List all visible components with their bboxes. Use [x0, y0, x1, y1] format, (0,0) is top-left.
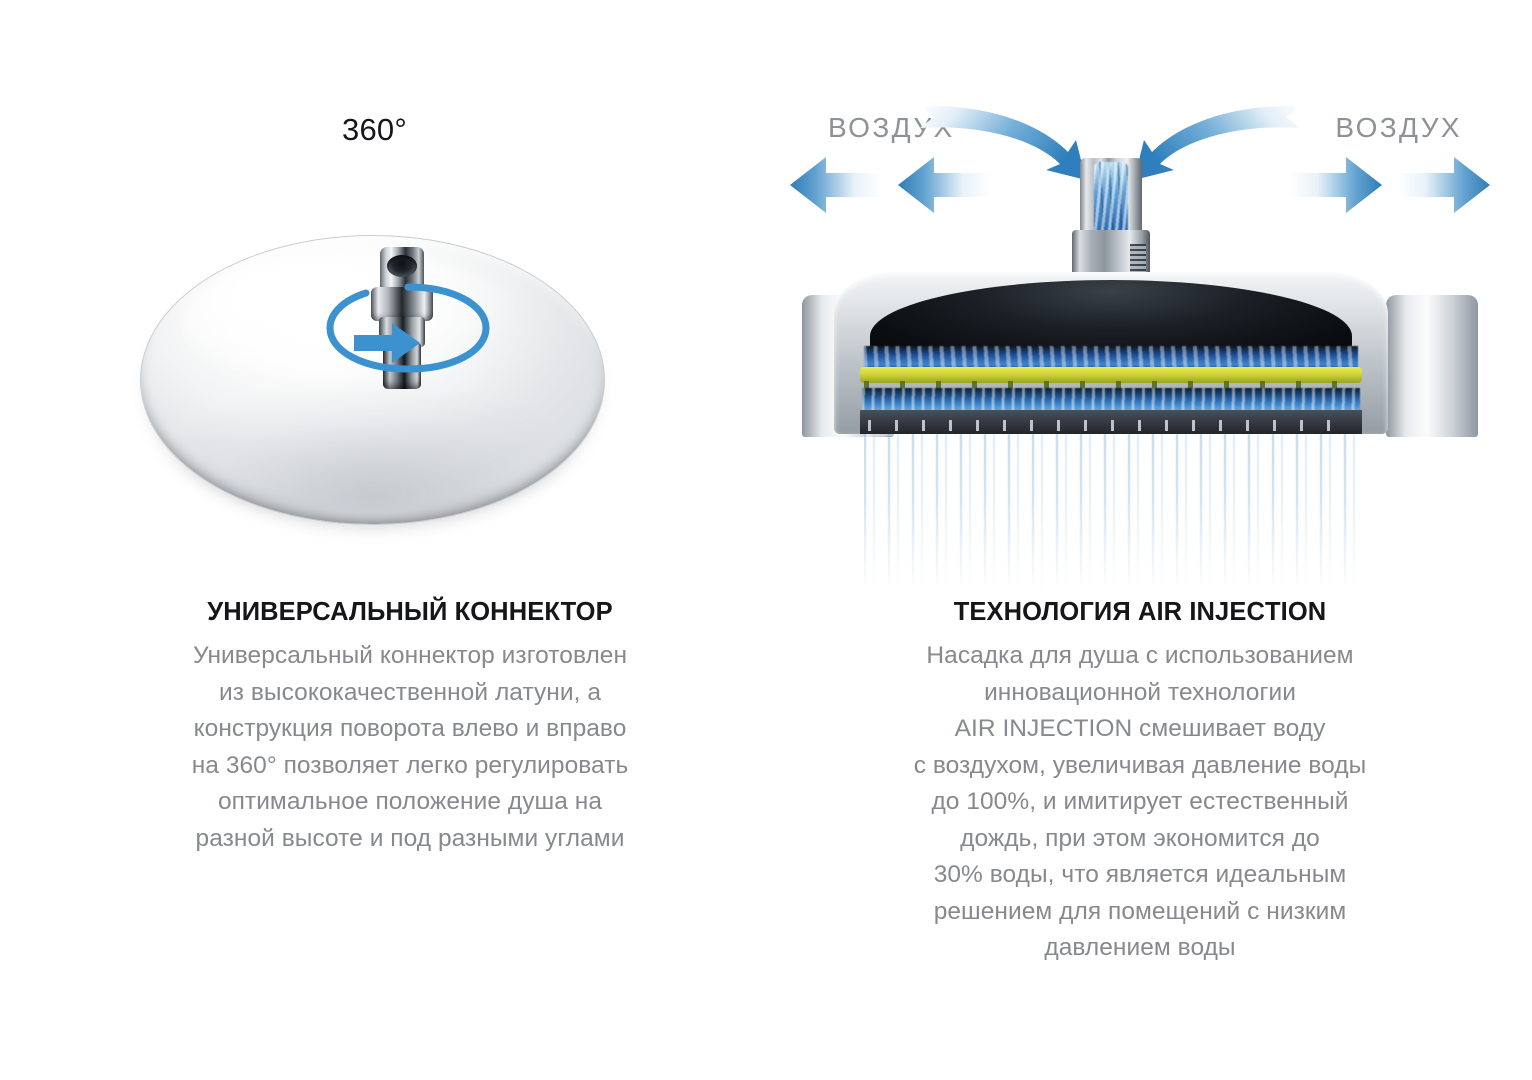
- feature-column-air-injection: ВОЗДУХ ВОЗДУХ: [790, 0, 1490, 1080]
- head-shell-right: [1386, 295, 1478, 437]
- body-line: решением для помещений с низким: [790, 894, 1490, 931]
- body-line: 30% воды, что является идеальным: [790, 857, 1490, 894]
- body-line: давлением воды: [790, 930, 1490, 967]
- shower-head-cutaway-icon: ВОЗДУХ ВОЗДУХ: [790, 90, 1490, 590]
- shower-disc-icon: [140, 235, 605, 525]
- body-line: AIR INJECTION смешивает воду: [790, 711, 1490, 748]
- feature-title-air-injection: ТЕХНОЛОГИЯ AIR INJECTION: [790, 598, 1490, 627]
- body-line: на 360° позволяет легко регулировать: [60, 748, 760, 785]
- body-line: конструкция поворота влево и вправо: [60, 711, 760, 748]
- body-line: Насадка для душа с использованием: [790, 638, 1490, 675]
- head-cross-section: [834, 272, 1388, 434]
- feature-body-air-injection: Насадка для душа с использованием иннова…: [790, 638, 1490, 967]
- rotation-arrow-icon: [320, 273, 495, 381]
- body-line: инновационной технологии: [790, 675, 1490, 712]
- feature-column-universal-connector: 360° УНИВЕРСАЛЬНЫЙ КОННЕКТОР Универсальн…: [60, 0, 760, 1080]
- infographic-page: 360° УНИВЕРСАЛЬНЫЙ КОННЕКТОР Универсальн…: [0, 0, 1532, 1080]
- body-line: оптимальное положение душа на: [60, 784, 760, 821]
- caption-universal-connector: УНИВЕРСАЛЬНЫЙ КОННЕКТОР Универсальный ко…: [60, 598, 760, 857]
- caption-air-injection: ТЕХНОЛОГИЯ AIR INJECTION Насадка для душ…: [790, 598, 1490, 967]
- body-line: дождь, при этом экономится до: [790, 821, 1490, 858]
- feature-title-universal-connector: УНИВЕРСАЛЬНЫЙ КОННЕКТОР: [60, 598, 760, 627]
- body-line: до 100%, и имитирует естественный: [790, 784, 1490, 821]
- feature-body-universal-connector: Универсальный коннектор изготовлен из вы…: [60, 638, 760, 857]
- body-line: из высококачественной латуни, а: [60, 675, 760, 712]
- body-line: с воздухом, увеличивая давление воды: [790, 748, 1490, 785]
- universal-connector-visual: 360°: [60, 90, 760, 590]
- water-spray-icon: [864, 434, 1358, 592]
- air-label-right: ВОЗДУХ: [1335, 112, 1462, 144]
- air-injection-visual: ВОЗДУХ ВОЗДУХ: [790, 90, 1490, 590]
- nozzle-plate: [860, 410, 1362, 434]
- rotation-badge-360: 360°: [342, 112, 407, 148]
- body-line: разной высоте и под разными углами: [60, 821, 760, 858]
- body-line: Универсальный коннектор изготовлен: [60, 638, 760, 675]
